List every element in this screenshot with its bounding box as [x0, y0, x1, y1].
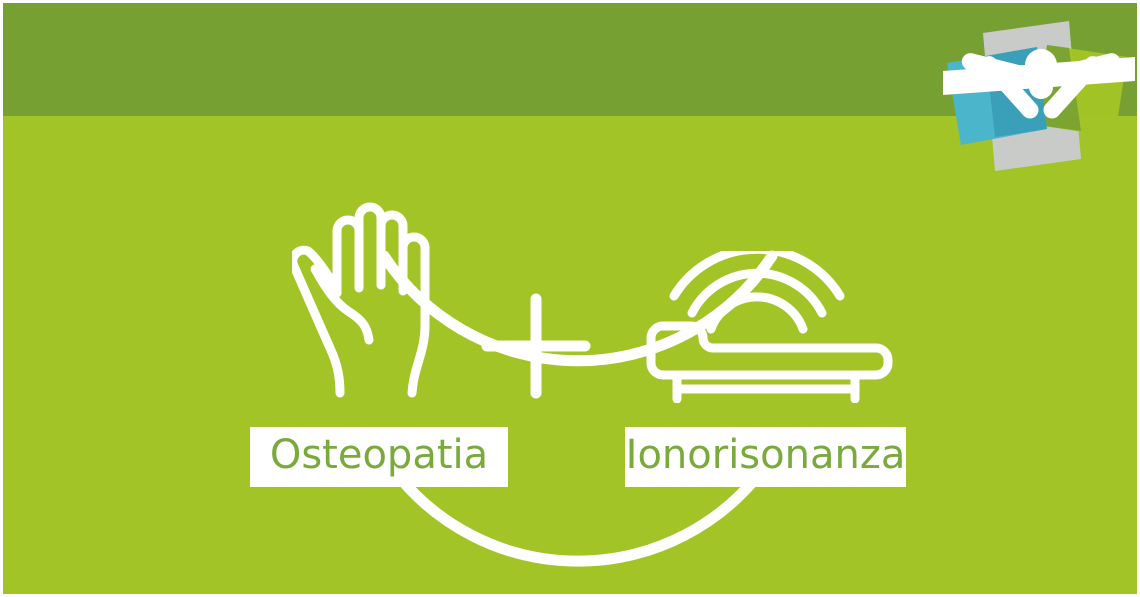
- promo-banner: Colloqui gratuiti: [0, 0, 1140, 597]
- treatment-table-waves-icon: [633, 251, 905, 403]
- label-osteopatia: Osteopatia: [250, 427, 508, 487]
- hand-icon: [292, 193, 442, 398]
- plus-icon: [477, 291, 595, 401]
- label-ionorisonanza: Ionorisonanza: [625, 427, 906, 487]
- brand-logo: [941, 1, 1137, 197]
